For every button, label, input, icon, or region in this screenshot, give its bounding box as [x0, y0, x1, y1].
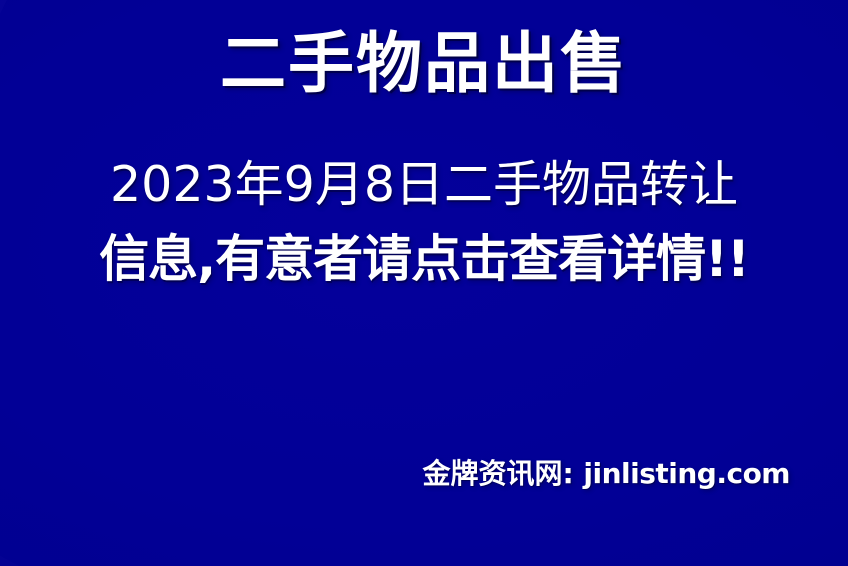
poster-content: 二手物品出售 2023年9月8日二手物品转让 信息,有意者请点击查看详情!! 金…: [0, 0, 848, 566]
footer-site-label: 金牌资讯网:: [422, 457, 573, 490]
poster-body-text: 2023年9月8日二手物品转让 信息,有意者请点击查看详情!!: [0, 148, 848, 296]
page-title: 二手物品出售: [0, 26, 848, 103]
footer-site-url: jinlisting.com: [583, 457, 790, 490]
body-line-date: 2023年9月8日二手物品转让: [0, 148, 848, 222]
body-line-cta: 信息,有意者请点击查看详情!!: [0, 222, 848, 296]
footer-credit: 金牌资讯网: jinlisting.com: [0, 452, 790, 492]
promo-poster: 二手物品出售 2023年9月8日二手物品转让 信息,有意者请点击查看详情!! 金…: [0, 0, 848, 566]
